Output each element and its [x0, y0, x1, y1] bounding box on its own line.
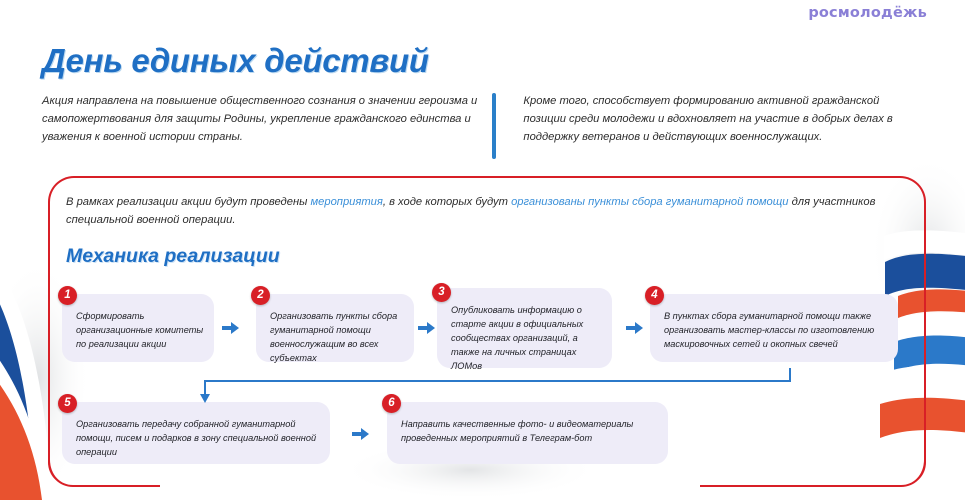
callout-highlight-1: мероприятия: [310, 196, 382, 208]
rosmolodezh-logo: росмолодёжь: [808, 5, 927, 21]
step-card-6-text: Направить качественные фото- и видеомате…: [401, 418, 658, 446]
step-badge-4: 4: [645, 286, 664, 305]
callout-highlight-2: организованы пункты сбора гуманитарной п…: [511, 196, 788, 208]
step-badge-6: 6: [382, 394, 401, 413]
callout-part-1: В рамках реализации акции будут проведен…: [66, 196, 310, 208]
step-card-4-text: В пунктах сбора гуманитарной помощи такж…: [664, 310, 888, 352]
step-badge-2: 2: [251, 286, 270, 305]
step-card-1[interactable]: Сформировать организационные комитеты по…: [62, 294, 214, 362]
arrow-step5-to-step6: [352, 427, 370, 441]
intro-section: Акция направлена на повышение общественн…: [42, 92, 922, 159]
step-card-2[interactable]: Организовать пункты сбора гуманитарной п…: [256, 294, 414, 362]
intro-paragraph-right: Кроме того, способствует формированию ак…: [496, 92, 922, 159]
step-card-1-text: Сформировать организационные комитеты по…: [76, 310, 204, 352]
intro-paragraph-left: Акция направлена на повышение общественн…: [42, 92, 492, 159]
page-title: День единых действий: [42, 42, 429, 80]
step-card-2-text: Организовать пункты сбора гуманитарной п…: [270, 310, 404, 366]
step-card-4[interactable]: В пунктах сбора гуманитарной помощи такж…: [650, 294, 898, 362]
callout-text: В рамках реализации акции будут проведен…: [66, 193, 911, 229]
step-card-3[interactable]: Опубликовать информацию о старте акции в…: [437, 288, 612, 368]
step-badge-1: 1: [58, 286, 77, 305]
step-card-5[interactable]: Организовать передачу собранной гуманита…: [62, 402, 330, 464]
step-badge-3: 3: [432, 283, 451, 302]
callout-part-2: , в ходе которых будут: [383, 196, 511, 208]
step-card-5-text: Организовать передачу собранной гуманита…: [76, 418, 320, 460]
arrow-step3-to-step4: [626, 321, 644, 335]
step-card-3-text: Опубликовать информацию о старте акции в…: [451, 304, 602, 374]
arrow-step1-to-step2: [222, 321, 240, 335]
step-badge-5: 5: [58, 394, 77, 413]
step-card-6[interactable]: Направить качественные фото- и видеомате…: [387, 402, 668, 464]
infographic-slide: росмолодёжь День единых действий Акция н…: [0, 0, 965, 500]
mechanics-heading: Механика реализации: [66, 245, 280, 268]
arrow-step2-to-step3: [418, 321, 436, 335]
